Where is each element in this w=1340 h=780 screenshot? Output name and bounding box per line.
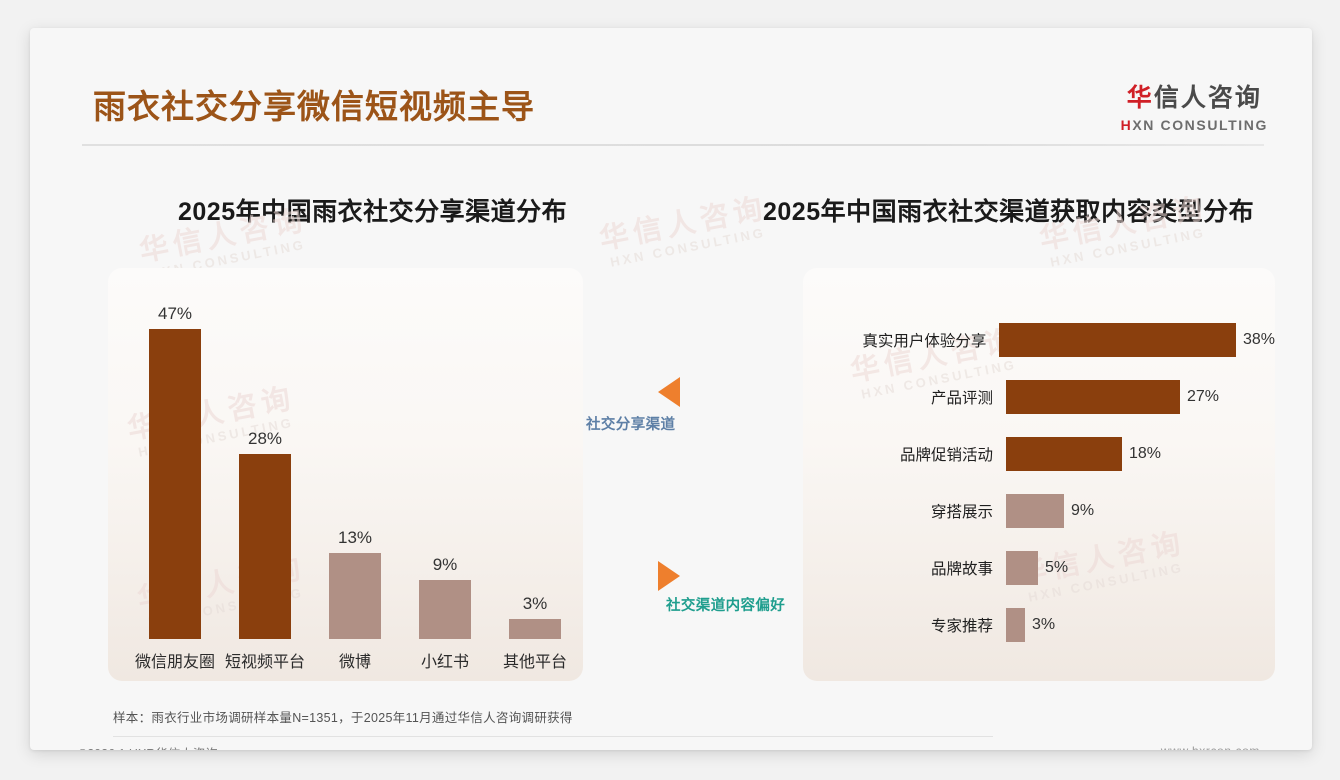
triangle-left-icon: [658, 377, 680, 407]
bar-category-label: 产品评测: [803, 386, 1006, 408]
logo-cn-rest: 信人咨询: [1154, 84, 1262, 112]
bar[interactable]: [1006, 551, 1038, 585]
bar-category-label: 小红书: [421, 648, 469, 672]
bar-value-label: 13%: [338, 528, 372, 548]
bar-group: 13%微博: [310, 549, 400, 639]
bar-value-label: 27%: [1187, 388, 1219, 406]
right-chart-panel: 华信人咨询 HXN CONSULTING 华信人咨询 HXN CONSULTIN…: [803, 268, 1275, 681]
right-chart-title: 2025年中国雨衣社交渠道获取内容类型分布: [763, 192, 1254, 228]
bar-category-label: 品牌促销活动: [803, 443, 1006, 465]
bar-category-label: 微博: [339, 648, 371, 672]
slide-header: 雨衣社交分享微信短视频主导 华信人咨询 HXN CONSULTING: [30, 28, 1312, 140]
page-title: 雨衣社交分享微信短视频主导: [93, 90, 535, 123]
bar-category-label: 微信朋友圈: [135, 648, 215, 672]
bar[interactable]: [1006, 608, 1025, 642]
bar[interactable]: [419, 580, 471, 639]
bar-value-label: 3%: [523, 594, 548, 614]
bar-value-label: 9%: [1071, 502, 1094, 520]
logo-english-text: HXN CONSULTING: [1121, 118, 1268, 132]
bar-value-label: 18%: [1129, 445, 1161, 463]
left-chart-panel: 华信人咨询 HXN CONSULTING 华信人咨询 HXN CONSULTIN…: [108, 268, 583, 681]
bar-row: 品牌促销活动18%: [803, 437, 1275, 471]
bar-value-label: 38%: [1243, 331, 1275, 349]
sample-note: 样本：雨衣行业市场调研样本量N=1351，于2025年11月通过华信人咨询调研获…: [113, 707, 993, 737]
bar-row: 穿搭展示9%: [803, 494, 1275, 528]
bar-value-label: 28%: [248, 429, 282, 449]
triangle-right-icon: [658, 561, 680, 591]
bar[interactable]: [1006, 437, 1122, 471]
logo-en-red: H: [1121, 117, 1133, 133]
title-divider: [82, 144, 1264, 146]
bar[interactable]: [1006, 494, 1064, 528]
bar-group: 28%短视频平台: [220, 450, 310, 639]
horizontal-bar-chart: 真实用户体验分享38%产品评测27%品牌促销活动18%穿搭展示9%品牌故事5%专…: [803, 268, 1275, 681]
bar[interactable]: [509, 619, 561, 639]
left-chart-title: 2025年中国雨衣社交分享渠道分布: [178, 192, 567, 228]
bar-category-label: 品牌故事: [803, 557, 1006, 579]
bar-row: 产品评测27%: [803, 380, 1275, 414]
bar[interactable]: [1006, 380, 1180, 414]
bar-group: 9%小红书: [400, 576, 490, 639]
bar-value-label: 47%: [158, 304, 192, 324]
bar-row: 品牌故事5%: [803, 551, 1275, 585]
bar-category-label: 短视频平台: [225, 648, 305, 672]
social-share-channel-label: 社交分享渠道: [586, 413, 675, 434]
logo-en-rest: XN CONSULTING: [1132, 117, 1268, 133]
website-link[interactable]: www.hxrcon.com: [1161, 744, 1260, 750]
company-logo: 华信人咨询 HXN CONSULTING: [1121, 86, 1268, 132]
logo-chinese-text: 华信人咨询: [1121, 86, 1268, 111]
bar-value-label: 5%: [1045, 559, 1068, 577]
content-preference-label: 社交渠道内容偏好: [666, 594, 785, 615]
bar-group: 47%微信朋友圈: [130, 325, 220, 639]
bar-category-label: 其他平台: [503, 648, 567, 672]
logo-cn-red: 华: [1127, 84, 1154, 112]
vertical-bar-chart: 47%微信朋友圈28%短视频平台13%微博9%小红书3%其他平台: [108, 268, 583, 681]
bar[interactable]: [239, 454, 291, 639]
bar[interactable]: [149, 329, 201, 639]
bar-row: 真实用户体验分享38%: [803, 323, 1275, 357]
watermark: 华信人咨询 HXN CONSULTING: [597, 192, 773, 272]
copyright-text: ©2026.1 HXR华信人咨询: [78, 743, 218, 750]
bar[interactable]: [329, 553, 381, 639]
bar-row: 专家推荐3%: [803, 608, 1275, 642]
bar[interactable]: [999, 323, 1236, 357]
bar-group: 3%其他平台: [490, 615, 580, 639]
bar-category-label: 专家推荐: [803, 614, 1006, 636]
bar-value-label: 3%: [1032, 616, 1055, 634]
slide-canvas: 雨衣社交分享微信短视频主导 华信人咨询 HXN CONSULTING 2025年…: [30, 28, 1312, 750]
bar-value-label: 9%: [433, 555, 458, 575]
bar-category-label: 真实用户体验分享: [803, 329, 999, 351]
bar-category-label: 穿搭展示: [803, 500, 1006, 522]
